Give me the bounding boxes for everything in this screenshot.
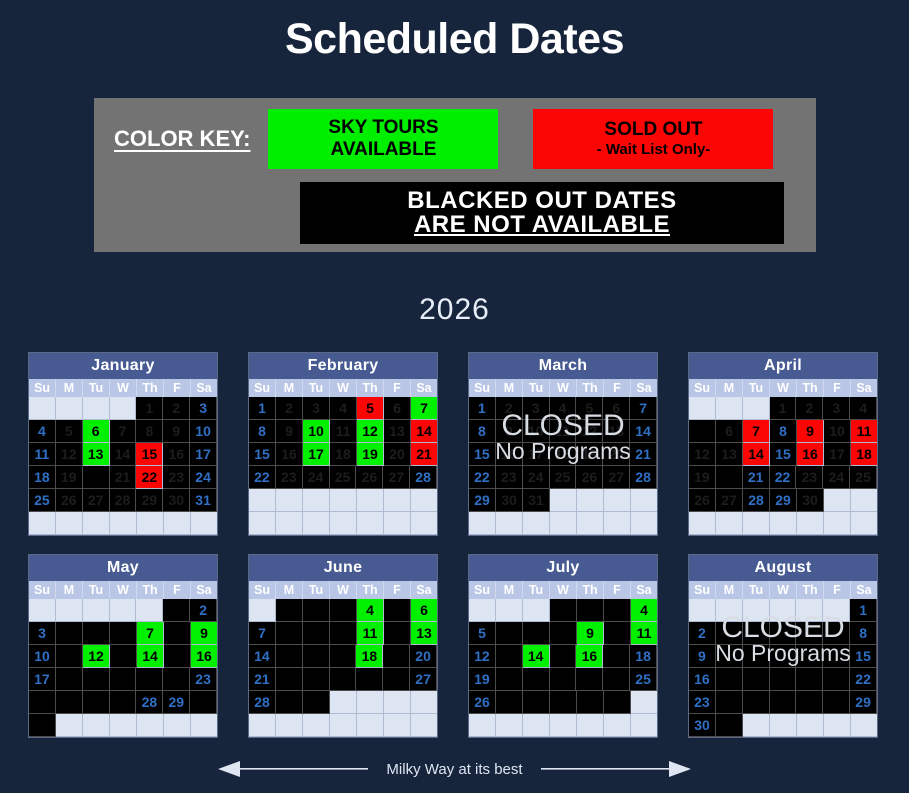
calendar-day-cell[interactable]: 11 [357,622,384,645]
calendar-day-cell[interactable]: 16 [797,443,824,466]
calendar-day-cell[interactable]: 31 [716,714,743,737]
calendar-day-cell[interactable]: 4 [330,397,357,420]
calendar-day-cell[interactable]: 11 [550,420,577,443]
calendar-empty-cell [110,397,137,420]
calendar-day-cell[interactable]: 25 [630,668,657,691]
weekday-header-su: Su [469,379,496,397]
calendar-day-cell[interactable]: 8 [249,420,276,443]
calendar-day-cell[interactable]: 15 [550,645,577,668]
calendar-day-cell[interactable]: 31 [523,489,550,512]
calendar-day-cell[interactable]: 21 [630,443,657,466]
calendar-day-cell[interactable]: 8 [164,622,191,645]
calendar-week-row: 23242526272829 [689,691,877,714]
calendar-day-cell[interactable]: 16 [576,645,603,668]
calendar-day-cell[interactable]: 17 [824,443,851,466]
calendar-day-cell[interactable]: 25 [29,489,56,512]
calendar-empty-cell [357,489,384,512]
calendar-day-cell[interactable]: 4 [56,622,83,645]
calendar-day-cell[interactable]: 16 [689,668,716,691]
weekday-header-su: Su [469,581,496,599]
calendar-day-cell[interactable]: 18 [330,443,357,466]
calendar-day-cell[interactable]: 19 [83,668,110,691]
calendar-day-cell[interactable]: 22 [850,668,877,691]
weekday-header-f: F [824,581,851,599]
calendar-day-cell[interactable]: 19 [56,466,83,489]
weekday-header-tu: Tu [303,379,330,397]
calendar-day-cell[interactable]: 3 [330,599,357,622]
calendar-day-cell[interactable]: 7 [137,622,164,645]
calendar-day-cell[interactable]: 12 [576,420,603,443]
calendar-day-cell[interactable]: 20 [410,645,437,668]
calendar-day-cell[interactable]: 19 [469,668,496,691]
calendar-day-cell[interactable]: 19 [689,466,716,489]
calendar-day-cell[interactable]: 8 [550,622,577,645]
calendar-day-cell[interactable]: 6 [411,599,437,622]
calendar-empty-cell [137,512,164,535]
calendar-day-cell[interactable]: 27 [496,691,523,714]
calendar-empty-cell [689,512,716,535]
calendar-day-cell[interactable]: 29 [136,489,163,512]
calendar-day-cell[interactable]: 17 [603,645,630,668]
calendar-day-cell[interactable]: 2 [689,622,716,645]
calendar-day-cell[interactable]: 26 [83,691,110,714]
calendar-day-cell[interactable]: 15 [164,645,191,668]
calendar-day-cell[interactable]: 30 [496,489,523,512]
calendar-empty-cell [770,714,797,737]
calendar-day-cell[interactable]: 4 [357,599,384,622]
calendar-day-cell[interactable]: 11 [56,645,83,668]
weekday-header-sa: Sa [631,379,657,397]
calendar-day-cell[interactable]: 28 [136,691,163,714]
calendar-day-cell[interactable]: 9 [689,645,716,668]
calendar-day-cell[interactable]: 19 [576,443,603,466]
calendar-empty-cell [330,489,357,512]
calendar-empty-cell [357,691,384,714]
calendar-day-cell[interactable]: 29 [770,489,797,512]
calendar-week-row: 12131415161718 [689,443,877,466]
calendar-day-cell[interactable]: 25 [356,668,383,691]
calendar-day-cell[interactable]: 9 [163,420,190,443]
calendar-row: JanuarySuMTuWThFSa1234567891011121314151… [28,352,888,536]
calendar-day-cell[interactable]: 11 [29,443,56,466]
calendar-day-cell[interactable]: 8 [850,622,877,645]
calendar-day-cell[interactable]: 9 [496,420,523,443]
calendar-day-cell[interactable]: 19 [383,645,410,668]
calendar-day-cell[interactable]: 17 [330,645,357,668]
calendar-day-cell[interactable]: 14 [630,420,657,443]
calendar-day-cell[interactable]: 10 [330,622,357,645]
calendar-day-cell[interactable]: 14 [249,645,276,668]
calendar-day-cell[interactable]: 17 [303,443,330,466]
calendar-day-cell[interactable]: 23 [190,668,217,691]
calendar-day-cell[interactable]: 9 [191,622,217,645]
calendar-day-cell[interactable]: 18 [550,443,577,466]
calendar-day-cell[interactable]: 3 [523,397,550,420]
calendar-day-cell[interactable]: 29 [850,691,877,714]
calendar-empty-cell [249,512,276,535]
calendar-day-cell[interactable]: 11 [330,420,357,443]
calendar-day-cell[interactable]: 29 [163,691,190,714]
calendar-day-cell[interactable]: 6 [83,420,110,443]
calendar-day-cell[interactable]: 23 [796,466,823,489]
calendar-day-cell[interactable]: 5 [689,420,716,443]
calendar-day-cell[interactable]: 21 [743,466,770,489]
weekday-header-su: Su [689,581,716,599]
weekday-header-w: W [110,379,137,397]
calendar-day-cell[interactable]: 21 [411,443,437,466]
calendar-day-cell[interactable]: 1 [550,599,577,622]
calendar-day-cell[interactable]: 14 [110,443,137,466]
calendar-day-cell[interactable]: 24 [29,691,56,714]
calendar-day-cell[interactable]: 10 [29,645,56,668]
calendar-day-cell[interactable]: 25 [330,466,357,489]
calendar-day-cell[interactable]: 7 [523,622,550,645]
calendar-day-cell[interactable]: 2 [276,397,303,420]
calendar-day-cell[interactable]: 3 [716,622,743,645]
calendar-week-row: 3031 [689,714,877,737]
calendar-day-cell[interactable]: 4 [550,397,577,420]
calendar-day-cell[interactable]: 22 [249,466,276,489]
calendar-day-cell[interactable]: 2 [190,599,217,622]
calendar-day-cell[interactable]: 28 [823,691,850,714]
calendar-day-cell[interactable]: 13 [83,443,110,466]
calendar-day-cell[interactable]: 25 [550,466,577,489]
calendar-day-cell[interactable]: 9 [303,622,330,645]
calendar-day-cell[interactable]: 27 [603,466,630,489]
calendar-day-cell[interactable]: 3 [823,397,850,420]
calendar-day-cell[interactable]: 3 [190,397,217,420]
calendar-day-cell[interactable]: 1 [136,397,163,420]
calendar-day-cell[interactable]: 23 [496,466,523,489]
calendar-day-cell[interactable]: 9 [577,622,604,645]
left-arrow-icon [218,759,368,779]
calendar-day-cell[interactable]: 20 [83,466,110,489]
legend-chip-soldout: SOLD OUT - Wait List Only- [533,109,773,169]
calendar-day-cell[interactable]: 8 [469,420,496,443]
calendar-day-cell[interactable]: 2 [303,599,330,622]
calendar-day-cell[interactable]: 13 [796,645,823,668]
calendar-day-cell[interactable]: 15 [770,443,797,466]
calendar-day-cell[interactable]: 24 [330,668,357,691]
calendar-day-cell[interactable]: 12 [357,420,384,443]
calendar-day-cell[interactable]: 14 [743,443,770,466]
calendar-day-cell[interactable]: 27 [110,691,137,714]
calendar-month-may: MaySuMTuWThFSa12345678910111213141516171… [28,554,218,738]
calendar-day-cell[interactable]: 14 [523,645,550,668]
calendar-day-cell[interactable]: 9 [797,420,824,443]
calendar-day-cell[interactable]: 20 [603,443,630,466]
calendar-week-row [689,512,877,535]
calendar-empty-cell [770,599,797,622]
calendar-day-cell[interactable]: 10 [190,420,217,443]
calendar-day-cell[interactable]: 1 [163,599,190,622]
calendar-day-cell[interactable]: 6 [796,622,823,645]
calendar-day-cell[interactable]: 24 [603,668,630,691]
calendar-day-cell[interactable]: 15 [249,443,276,466]
legend-chip-available: SKY TOURS AVAILABLE [268,109,498,169]
calendar-day-cell[interactable]: 8 [770,420,797,443]
calendar-day-cell[interactable]: 3 [29,622,56,645]
calendar-day-cell[interactable]: 30 [577,691,604,714]
calendar-day-cell[interactable]: 28 [743,489,770,512]
calendar-day-cell[interactable]: 25 [850,466,877,489]
calendar-day-cell[interactable]: 23 [689,691,716,714]
calendar-day-cell[interactable]: 20 [496,668,523,691]
calendar-day-cell[interactable]: 28 [523,691,550,714]
calendar-empty-cell [249,599,276,622]
calendar-week-row: 31 [29,714,217,737]
calendar-day-cell[interactable]: 1 [770,397,797,420]
calendar-day-cell[interactable]: 7 [630,397,657,420]
calendar-day-cell[interactable]: 31 [604,691,631,714]
calendar-day-cell[interactable]: 18 [851,443,877,466]
calendar-day-cell[interactable]: 23 [163,466,190,489]
calendar-day-cell[interactable]: 3 [604,599,631,622]
calendar-day-cell[interactable]: 8 [276,622,303,645]
calendar-day-cell[interactable]: 26 [469,691,496,714]
calendar-day-cell[interactable]: 11 [631,622,657,645]
calendar-day-cell[interactable]: 5 [83,622,110,645]
calendar-day-cell[interactable]: 13 [603,420,630,443]
calendar-day-cell[interactable]: 26 [770,691,797,714]
calendar-day-cell[interactable]: 16 [191,645,217,668]
calendar-day-cell[interactable]: 16 [276,443,303,466]
calendar-day-cell[interactable]: 17 [29,668,56,691]
calendar-day-cell[interactable]: 14 [137,645,164,668]
calendar-day-cell[interactable]: 7 [411,397,437,420]
calendar-day-cell[interactable]: 30 [163,489,190,512]
calendar-day-cell[interactable]: 12 [689,443,716,466]
calendar-day-cell[interactable]: 28 [410,466,437,489]
calendar-day-cell[interactable]: 21 [249,668,276,691]
calendar-day-cell[interactable]: 2 [163,397,190,420]
weekday-header-m: M [496,581,523,599]
calendar-day-cell[interactable]: 27 [383,466,410,489]
calendar-empty-cell [357,714,384,737]
calendar-day-cell[interactable]: 2 [496,397,523,420]
calendar-day-cell[interactable]: 14 [823,645,850,668]
calendar-day-cell[interactable]: 12 [469,645,496,668]
calendar-day-cell[interactable]: 26 [356,466,383,489]
calendar-day-cell[interactable]: 28 [110,489,137,512]
calendar-day-cell[interactable]: 26 [576,466,603,489]
calendar-day-cell[interactable]: 24 [823,466,850,489]
calendar-day-cell[interactable]: 27 [83,489,110,512]
calendar-day-cell[interactable]: 10 [604,622,631,645]
calendar-empty-cell [411,691,437,714]
calendar-day-cell[interactable]: 19 [357,443,384,466]
calendar-day-cell[interactable]: 27 [410,668,437,691]
calendar-day-cell[interactable]: 6 [716,420,743,443]
calendar-day-cell[interactable]: 6 [110,622,137,645]
calendar-day-cell[interactable]: 17 [523,443,550,466]
weekday-header-su: Su [689,379,716,397]
calendar-day-cell[interactable]: 18 [630,645,657,668]
calendar-day-cell[interactable]: 24 [190,466,217,489]
calendar-day-cell[interactable]: 16 [496,443,523,466]
calendar-week-row: 567891011 [689,420,877,443]
calendar-day-cell[interactable]: 12 [83,645,110,668]
calendar-day-cell[interactable]: 24 [523,466,550,489]
calendar-day-cell[interactable]: 8 [136,420,163,443]
calendar-day-cell[interactable]: 28 [630,466,657,489]
weekday-header-th: Th [357,379,384,397]
calendar-day-cell[interactable]: 2 [796,397,823,420]
calendar-day-cell[interactable]: 13 [384,420,411,443]
calendar-day-cell[interactable]: 26 [383,668,410,691]
calendar-day-cell[interactable]: 4 [631,599,657,622]
calendar-day-cell[interactable]: 25 [743,691,770,714]
calendar-day-cell[interactable]: 28 [249,691,276,714]
calendar-day-cell[interactable]: 12 [770,645,797,668]
calendar-day-cell[interactable]: 29 [469,489,496,512]
calendar-day-cell[interactable]: 4 [850,397,877,420]
calendar-day-cell[interactable]: 4 [29,420,56,443]
calendar-week-row [249,714,437,737]
calendar-day-cell[interactable]: 10 [303,420,330,443]
calendar-day-cell[interactable]: 30 [190,691,217,714]
calendar-day-cell[interactable]: 17 [716,668,743,691]
calendar-week-row: 24252627282930 [29,691,217,714]
calendar-empty-cell [191,512,217,535]
calendar-day-cell[interactable]: 18 [356,645,383,668]
calendar-day-cell[interactable]: 5 [469,622,496,645]
calendar-day-cell[interactable]: 7 [110,420,137,443]
calendar-day-cell[interactable]: 5 [770,622,797,645]
calendar-day-cell[interactable]: 21 [110,466,137,489]
calendar-day-cell[interactable]: 7 [249,622,276,645]
calendar-day-cell[interactable]: 5 [357,397,384,420]
calendar-day-cell[interactable]: 23 [576,668,603,691]
calendar-day-cell[interactable]: 26 [56,489,83,512]
calendar-day-cell[interactable]: 31 [29,714,56,737]
calendar-month-april: AprilSuMTuWThFSa123456789101112131415161… [688,352,878,536]
weekday-header-f: F [604,581,631,599]
calendar-day-cell[interactable]: 22 [136,466,163,489]
calendar-day-cell[interactable]: 23 [276,466,303,489]
calendar-day-cell[interactable]: 15 [469,443,496,466]
calendar-day-cell[interactable]: 20 [110,668,137,691]
calendar-day-cell[interactable]: 20 [384,443,411,466]
calendar-empty-cell [851,489,877,512]
calendar-week-row: 123 [29,397,217,420]
calendar-day-cell[interactable]: 11 [851,420,877,443]
month-title: July [469,555,657,581]
calendar-day-cell[interactable]: 15 [136,443,163,466]
calendar-day-cell[interactable]: 6 [603,397,630,420]
calendar-day-cell[interactable]: 24 [303,466,330,489]
calendar-day-cell[interactable]: 16 [303,645,330,668]
calendar-empty-cell [823,599,850,622]
calendar-day-cell[interactable]: 14 [411,420,437,443]
calendar-week-row: 1234567 [249,397,437,420]
calendar-day-cell[interactable]: 6 [496,622,523,645]
calendar-day-cell[interactable]: 1 [469,397,496,420]
weekday-header-row: SuMTuWThFSa [689,379,877,397]
calendar-day-cell[interactable]: 25 [56,691,83,714]
calendar-day-cell[interactable]: 18 [29,466,56,489]
calendar-day-cell[interactable]: 30 [797,489,824,512]
calendar-day-cell[interactable]: 12 [384,622,411,645]
calendar-month-july: JulySuMTuWThFSa1234567891011121314151617… [468,554,658,738]
calendar-day-cell[interactable]: 10 [716,645,743,668]
calendar-day-cell[interactable]: 20 [796,668,823,691]
calendar-day-cell[interactable]: 15 [276,645,303,668]
calendar-day-cell[interactable]: 16 [163,443,190,466]
calendar-day-cell[interactable]: 27 [716,489,743,512]
calendar-day-cell[interactable]: 7 [743,420,770,443]
calendar-week-row: 567891011 [469,622,657,645]
calendar-day-cell[interactable]: 27 [796,691,823,714]
calendar-day-cell[interactable]: 6 [384,397,411,420]
calendar-week-row: 21222324252627 [249,668,437,691]
calendar-day-cell[interactable]: 23 [303,668,330,691]
calendar-day-cell[interactable]: 18 [743,668,770,691]
calendar-day-cell[interactable]: 4 [743,622,770,645]
calendar-day-cell[interactable]: 1 [249,397,276,420]
calendar-day-cell[interactable]: 13 [110,645,137,668]
calendar-day-cell[interactable]: 22 [163,668,190,691]
calendar-day-cell[interactable]: 13 [496,645,523,668]
calendar-day-cell[interactable]: 26 [689,489,716,512]
calendar-day-cell[interactable]: 21 [523,668,550,691]
month-title: February [249,353,437,379]
calendar-day-cell[interactable]: 29 [276,691,303,714]
weekday-header-row: SuMTuWThFSa [469,581,657,599]
calendar-day-cell[interactable]: 31 [190,489,217,512]
calendar-day-cell[interactable]: 24 [716,691,743,714]
calendar-day-cell[interactable]: 10 [824,420,851,443]
calendar-day-cell[interactable]: 13 [716,443,743,466]
calendar-day-cell[interactable]: 5 [56,420,83,443]
calendar-day-cell[interactable]: 9 [276,420,303,443]
calendar-day-cell[interactable]: 29 [550,691,577,714]
calendar-day-cell[interactable]: 17 [190,443,217,466]
calendar-day-cell[interactable]: 18 [56,668,83,691]
calendar-day-cell[interactable]: 22 [276,668,303,691]
calendar-empty-cell [689,599,716,622]
calendar-day-cell[interactable]: 5 [384,599,411,622]
calendar-week-row: 123456 [249,599,437,622]
calendar-day-cell[interactable]: 10 [523,420,550,443]
calendar-day-cell[interactable]: 2 [577,599,604,622]
weekday-header-m: M [716,379,743,397]
calendar-day-cell[interactable]: 13 [411,622,437,645]
calendar-day-cell[interactable]: 3 [303,397,330,420]
weekday-header-m: M [496,379,523,397]
calendar-day-cell[interactable]: 11 [743,645,770,668]
calendar-day-cell[interactable]: 5 [576,397,603,420]
weekday-header-su: Su [249,581,276,599]
calendar-day-cell[interactable]: 19 [770,668,797,691]
weekday-header-row: SuMTuWThFSa [29,581,217,599]
calendar-row: MaySuMTuWThFSa12345678910111213141516171… [28,554,888,738]
calendar-day-cell[interactable]: 30 [303,691,330,714]
calendar-day-cell[interactable]: 1 [850,599,877,622]
calendar-day-cell[interactable]: 12 [56,443,83,466]
calendar-day-cell[interactable]: 22 [770,466,797,489]
calendar-day-cell[interactable]: 15 [850,645,877,668]
weekday-header-w: W [330,379,357,397]
calendar-day-cell[interactable]: 22 [469,466,496,489]
calendar-day-cell[interactable]: 21 [823,668,850,691]
calendar-day-cell[interactable]: 7 [823,622,850,645]
calendar-day-cell[interactable]: 21 [136,668,163,691]
calendar-day-cell[interactable]: 22 [550,668,577,691]
calendar-day-cell[interactable]: 1 [276,599,303,622]
calendar-day-cell[interactable]: 20 [716,466,743,489]
calendar-day-cell[interactable]: 30 [689,714,716,737]
